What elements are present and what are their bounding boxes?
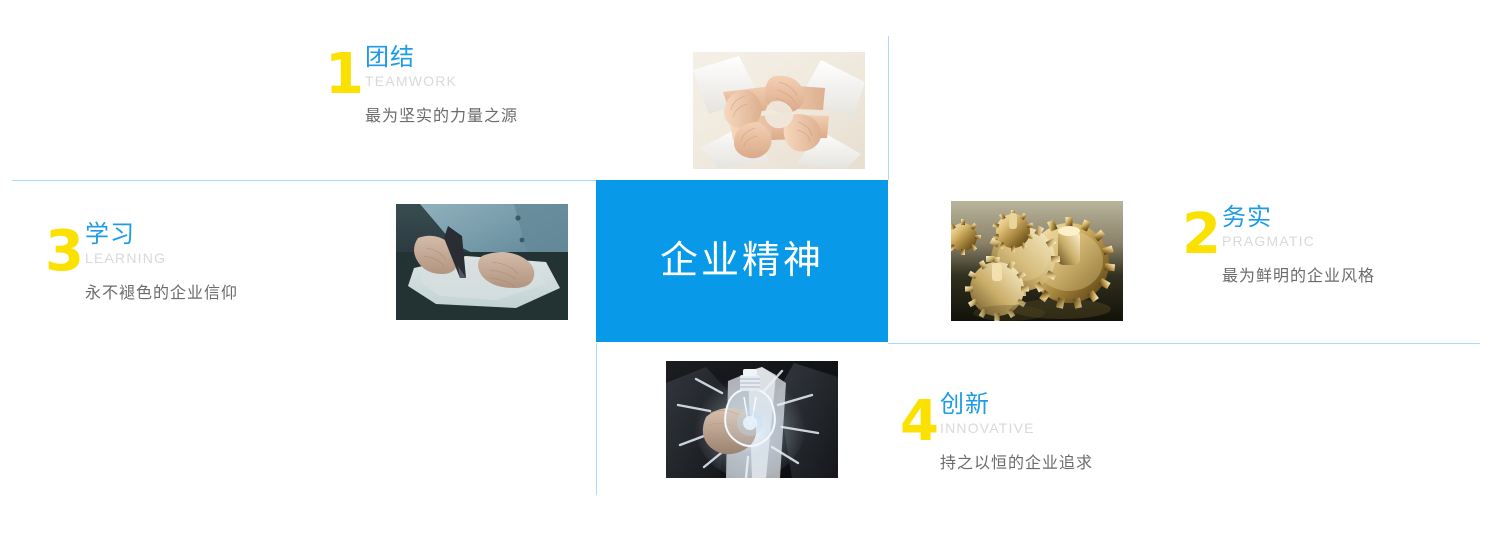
block-number-1: 1 xyxy=(325,47,364,103)
block-heading-en-2: PRAGMATIC xyxy=(1222,233,1375,249)
block-heading-en-4: INNOVATIVE xyxy=(940,420,1093,436)
photo-brass-gears xyxy=(951,201,1123,321)
block-number-2: 2 xyxy=(1182,207,1221,263)
divider-top-right xyxy=(888,36,889,180)
block-heading-cn-2: 务实 xyxy=(1222,205,1375,231)
photo-teamwork-hands xyxy=(693,52,865,169)
block-desc-1: 最为坚实的力量之源 xyxy=(365,102,518,126)
block-desc-4: 持之以恒的企业追求 xyxy=(940,449,1093,473)
block-text-group-2: 务实 PRAGMATIC 最为鲜明的企业风格 xyxy=(1222,205,1375,286)
block-text-group-4: 创新 INNOVATIVE 持之以恒的企业追求 xyxy=(940,392,1093,473)
block-text-group-3: 学习 LEARNING 永不褪色的企业信仰 xyxy=(85,222,238,303)
block-heading-en-1: TEAMWORK xyxy=(365,73,518,89)
block-heading-cn-4: 创新 xyxy=(940,392,1093,418)
block-desc-3: 永不褪色的企业信仰 xyxy=(85,279,238,303)
center-title-text: 企业精神 xyxy=(660,242,824,280)
block-desc-2: 最为鲜明的企业风格 xyxy=(1222,262,1375,286)
block-heading-en-3: LEARNING xyxy=(85,250,238,266)
block-text-group-1: 团结 TEAMWORK 最为坚实的力量之源 xyxy=(365,45,518,126)
photo-lightbulb-hand xyxy=(666,361,838,478)
corporate-spirit-infographic: 企业精神 1 团结 TEAMWORK 最为坚实的力量之源 2 务实 PRAGMA… xyxy=(0,0,1491,541)
center-title-panel: 企业精神 xyxy=(596,180,888,342)
block-number-4: 4 xyxy=(900,394,939,450)
divider-bottom-left xyxy=(596,343,597,495)
divider-top-left xyxy=(12,180,596,181)
block-number-3: 3 xyxy=(45,224,84,280)
block-heading-cn-1: 团结 xyxy=(365,45,518,71)
photo-person-writing xyxy=(396,204,568,320)
block-heading-cn-3: 学习 xyxy=(85,222,238,248)
divider-bottom-right xyxy=(888,343,1480,344)
